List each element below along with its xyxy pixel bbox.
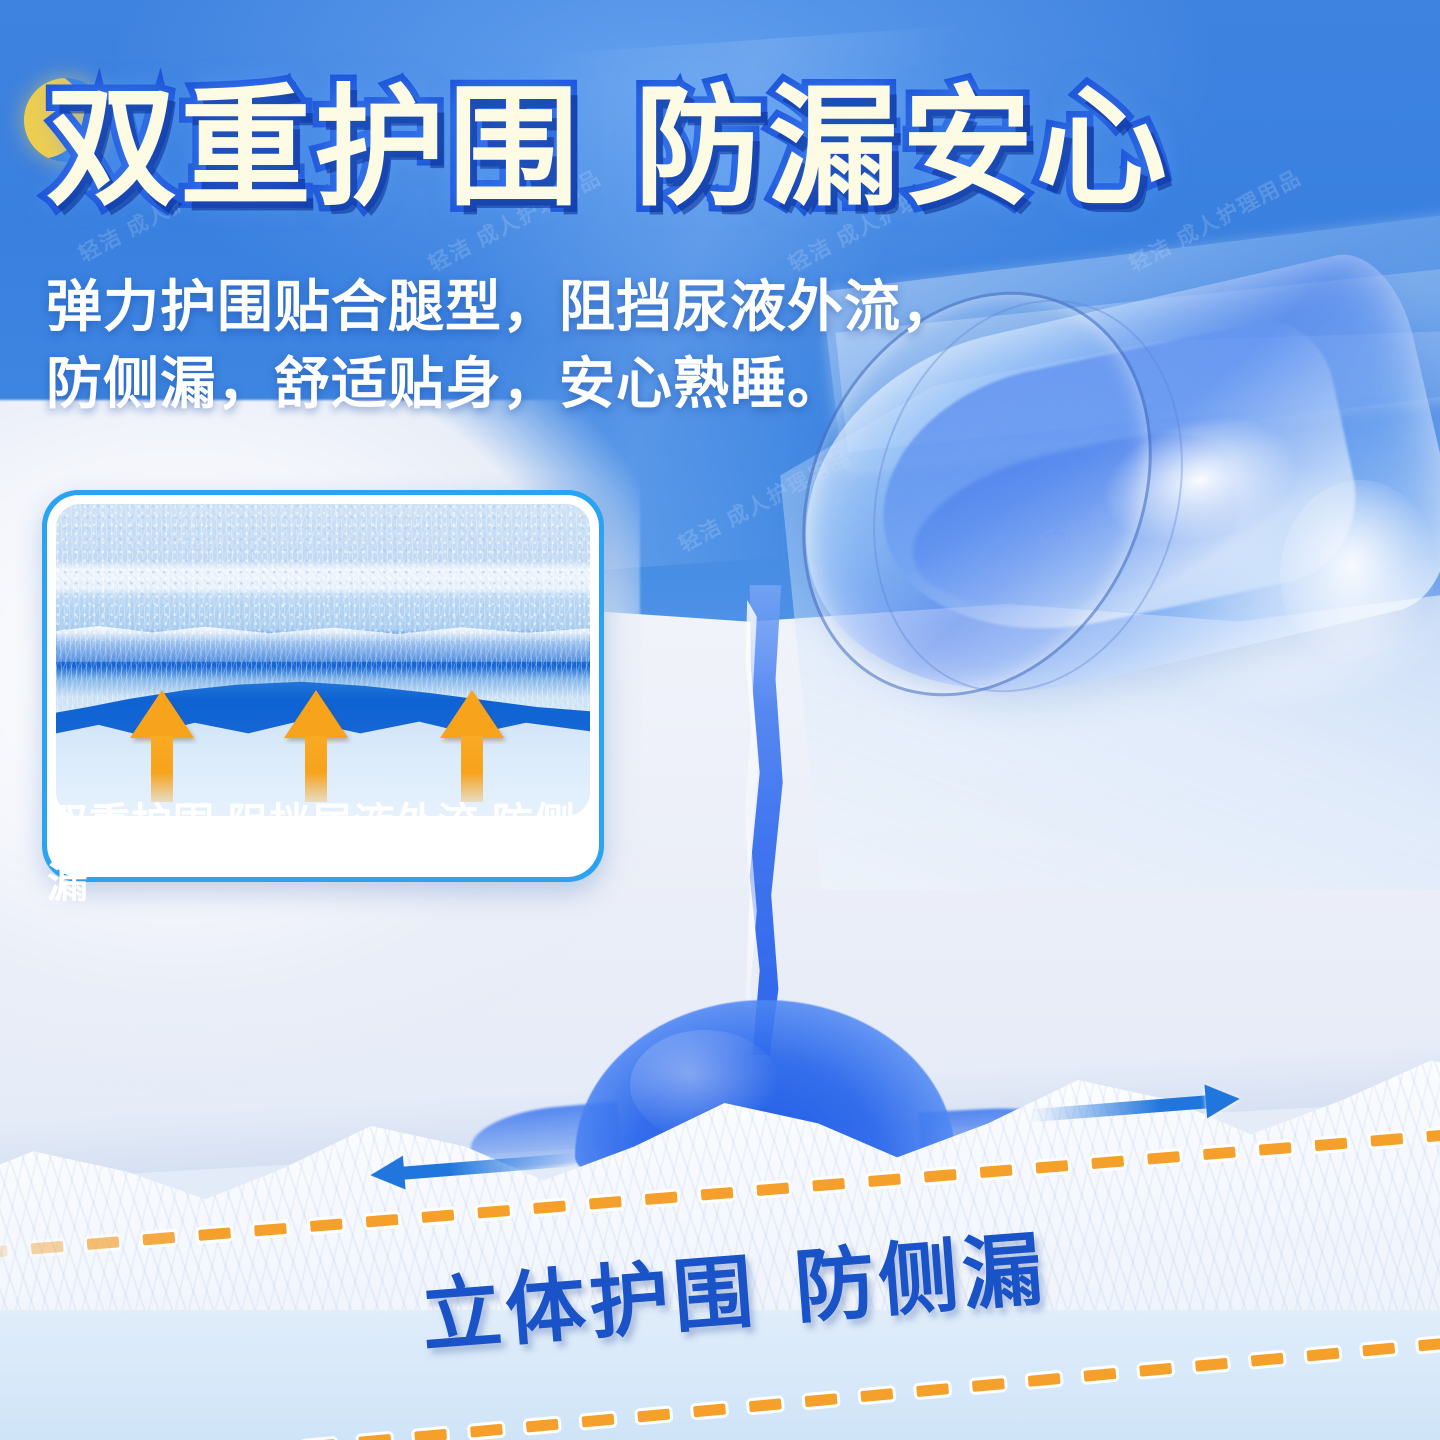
subtitle-block: 弹力护围贴合腿型，阻挡尿液外流， 防侧漏，舒适贴身，安心熟睡。 (46, 268, 1376, 423)
dash-segment (83, 1233, 122, 1253)
dash-segment (969, 1375, 1008, 1395)
arrow-head (130, 690, 194, 738)
dash-segment (362, 1211, 401, 1231)
dash-segment (1200, 1143, 1239, 1163)
dash-segment (474, 1202, 513, 1222)
dash-segment (1415, 1334, 1440, 1354)
dash-segment (530, 1197, 569, 1217)
dash-segment (1248, 1349, 1287, 1369)
dash-segment (1359, 1339, 1398, 1359)
dash-segment (1423, 1125, 1440, 1145)
dash-segment (586, 1193, 625, 1213)
dash-segment (801, 1390, 840, 1410)
dash-segment (634, 1405, 673, 1425)
dash-segment (809, 1175, 848, 1195)
dash-segment (0, 1242, 11, 1262)
headline-part2: 防漏安心 (634, 74, 1170, 221)
dash-segment (913, 1380, 952, 1400)
dash-segment (697, 1184, 736, 1204)
feature-card-photo (56, 504, 590, 816)
dash-segment (690, 1400, 729, 1420)
dash-segment (1144, 1148, 1183, 1168)
dash-segment (642, 1188, 681, 1208)
subtitle-line-1: 弹力护围贴合腿型，阻挡尿液外流， (46, 268, 1376, 345)
feature-card-inner: 双重护围 阻挡尿液外流 防侧漏 (47, 495, 599, 877)
dash-segment (753, 1179, 792, 1199)
dash-segment (307, 1215, 346, 1235)
dash-segment (976, 1161, 1015, 1181)
feature-card-caption: 双重护围 阻挡尿液外流 防侧漏 (47, 817, 599, 881)
feature-card[interactable]: 双重护围 阻挡尿液外流 防侧漏 (42, 490, 604, 882)
dash-segment (411, 1426, 450, 1440)
headline-part1: 双重护围 (46, 74, 582, 221)
dash-segment (1032, 1157, 1071, 1177)
slogan-spacer (759, 1316, 797, 1319)
dash-segment (865, 1170, 904, 1190)
arrow-head (284, 690, 348, 738)
dash-segment (195, 1224, 234, 1244)
dash-segment (857, 1385, 896, 1405)
dash-segment (28, 1238, 67, 1258)
dash-segment (1311, 1134, 1350, 1154)
subtitle-line-2: 防侧漏，舒适贴身，安心熟睡。 (46, 345, 1376, 422)
dash-segment (1192, 1355, 1231, 1375)
dash-segment (921, 1166, 960, 1186)
poster-stage: 轻洁 成人护理用品 轻洁 成人护理用品 轻洁 成人护理用品 轻洁 成人护理用品 … (0, 0, 1440, 1440)
glass-highlight-secondary (1280, 480, 1440, 670)
dash-segment (1080, 1365, 1119, 1385)
bottom-slogan-part1: 立体护围 (418, 1247, 760, 1362)
arrow-head (440, 690, 504, 738)
dash-segment (139, 1229, 178, 1249)
dash-segment (467, 1420, 506, 1440)
dash-segment (1088, 1152, 1127, 1172)
dash-segment (523, 1415, 562, 1435)
dash-segment (578, 1410, 617, 1430)
page-title: 双重护围防漏安心 (46, 82, 1386, 213)
dash-segment (1024, 1370, 1063, 1390)
dash-segment (746, 1395, 785, 1415)
up-arrow-icon (284, 690, 348, 802)
dash-segment (1303, 1344, 1342, 1364)
arrow-tip (1204, 1082, 1241, 1119)
dash-segment (1367, 1130, 1406, 1150)
dash-segment (1136, 1360, 1175, 1380)
up-arrow-icon (440, 690, 504, 802)
up-arrow-icon (130, 690, 194, 802)
dash-segment (418, 1206, 457, 1226)
dash-segment (251, 1220, 290, 1240)
fabric-dot-texture (56, 504, 590, 641)
arrow-bar (1030, 1095, 1212, 1122)
bottom-slogan-part2: 防侧漏 (791, 1225, 1049, 1333)
dash-segment (1256, 1139, 1295, 1159)
arrow-bar (398, 1153, 580, 1180)
